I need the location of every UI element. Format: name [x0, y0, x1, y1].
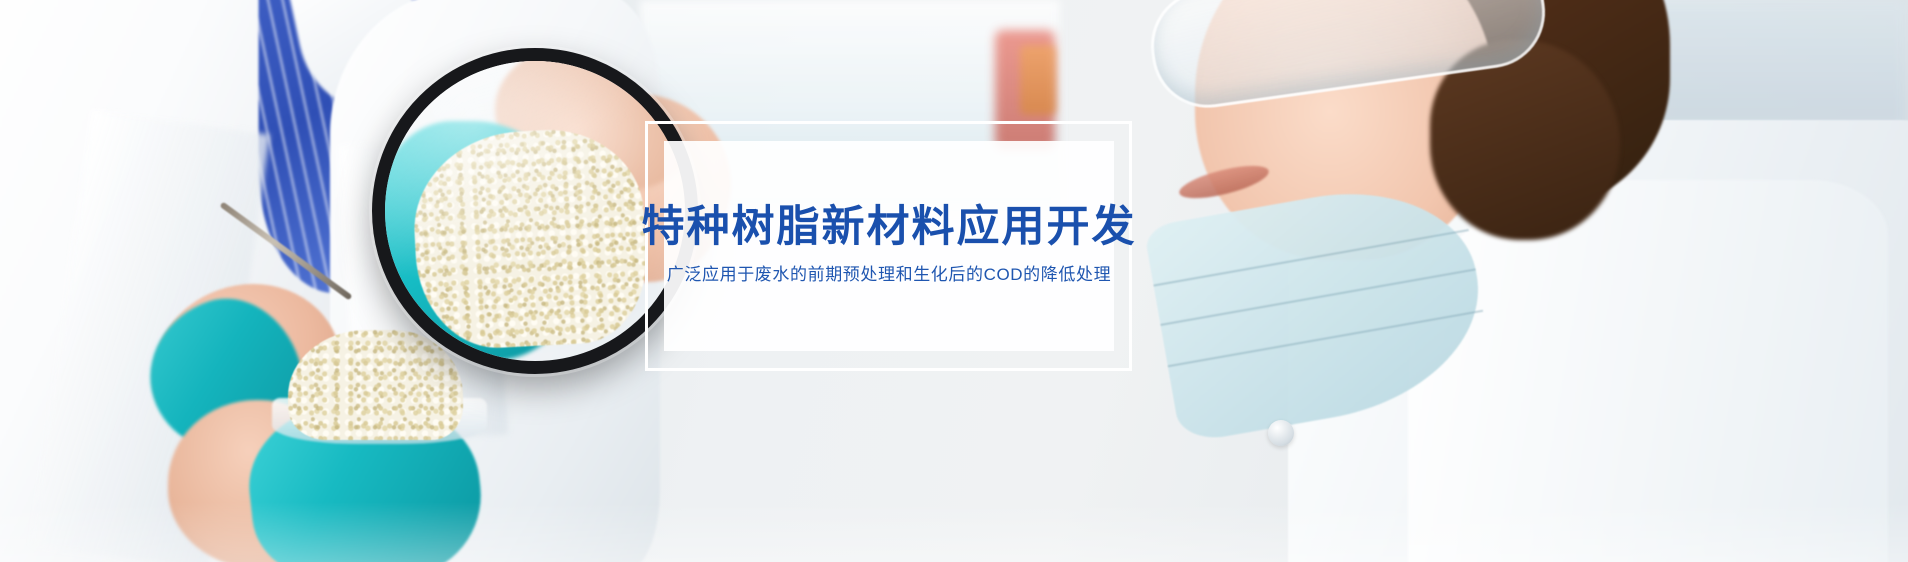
floor-highlight	[0, 502, 1908, 562]
banner-subtitle: 广泛应用于废水的前期预处理和生化后的COD的降低处理	[667, 265, 1111, 285]
banner-title: 特种树脂新材料应用开发	[642, 206, 1137, 249]
banner-text-block: 特种树脂新材料应用开发 广泛应用于废水的前期预处理和生化后的COD的降低处理	[664, 141, 1114, 351]
hero-banner: 特种树脂新材料应用开发 广泛应用于废水的前期预处理和生化后的COD的降低处理	[0, 0, 1908, 562]
coat-button-right	[1268, 420, 1294, 446]
background-orange-object	[1020, 45, 1056, 115]
